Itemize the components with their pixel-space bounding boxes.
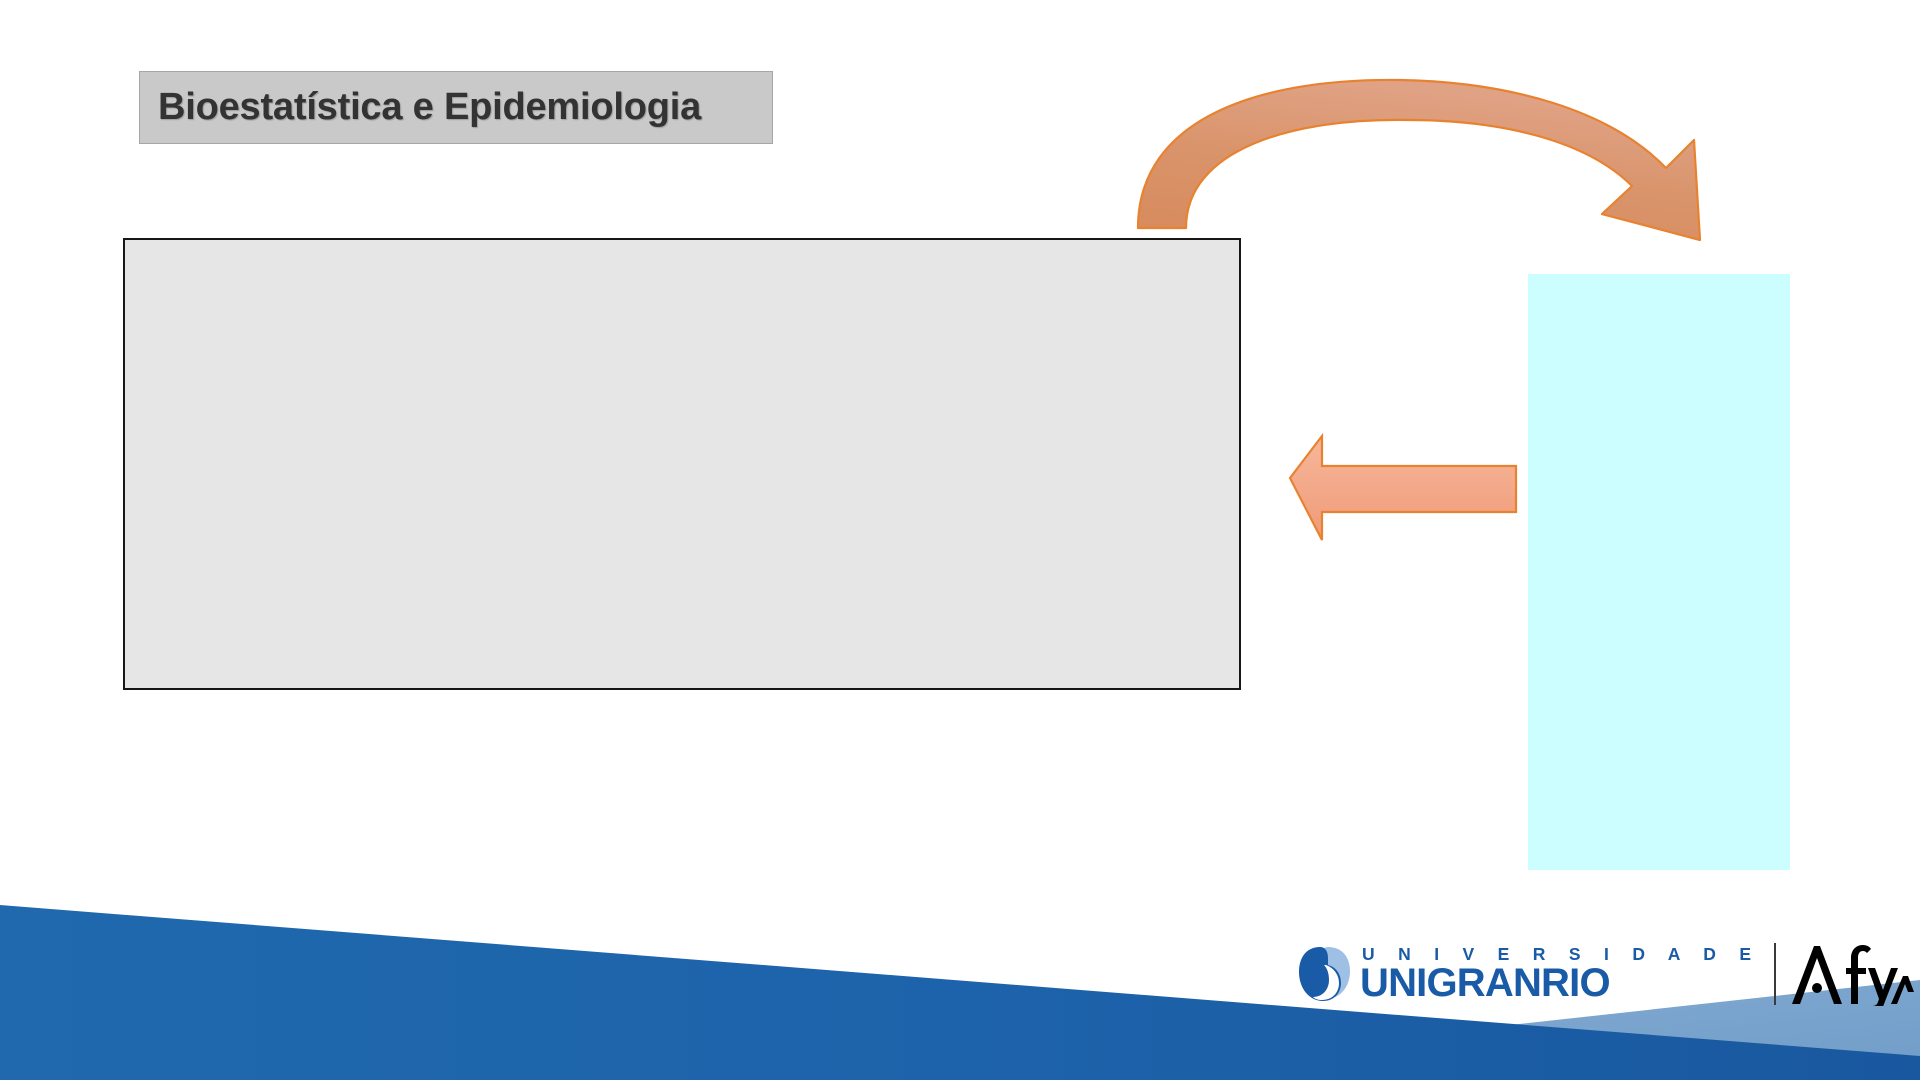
slide-canvas: Bioestatística e Epidemiologia [0, 0, 1920, 1080]
afya-letter-a2 [1891, 976, 1914, 1004]
straight-arrow-left-shape [1290, 436, 1516, 540]
logo-unigranrio-text: UNIGRANRIO [1360, 965, 1760, 1002]
curved-arrow-down-right[interactable] [1138, 80, 1700, 240]
afya-letter-a [1792, 946, 1842, 1004]
cyan-side-panel[interactable] [1528, 274, 1790, 870]
logo-lockup: U N I V E R S I D A D E UNIGRANRIO [1298, 938, 1915, 1010]
afya-logo-icon [1790, 942, 1915, 1006]
straight-arrow-left[interactable] [1290, 436, 1516, 540]
unigranrio-wordmark: U N I V E R S I D A D E UNIGRANRIO [1360, 946, 1760, 1002]
content-placeholder-box[interactable] [123, 238, 1241, 690]
slide-title-banner: Bioestatística e Epidemiologia [139, 71, 773, 144]
curved-arrow-shape [1138, 80, 1700, 240]
unigranrio-droplet-icon [1298, 945, 1354, 1003]
logo-divider [1774, 943, 1776, 1005]
afya-letter-f [1846, 945, 1871, 1004]
page-title: Bioestatística e Epidemiologia [158, 86, 701, 129]
afya-dot [1812, 983, 1822, 993]
